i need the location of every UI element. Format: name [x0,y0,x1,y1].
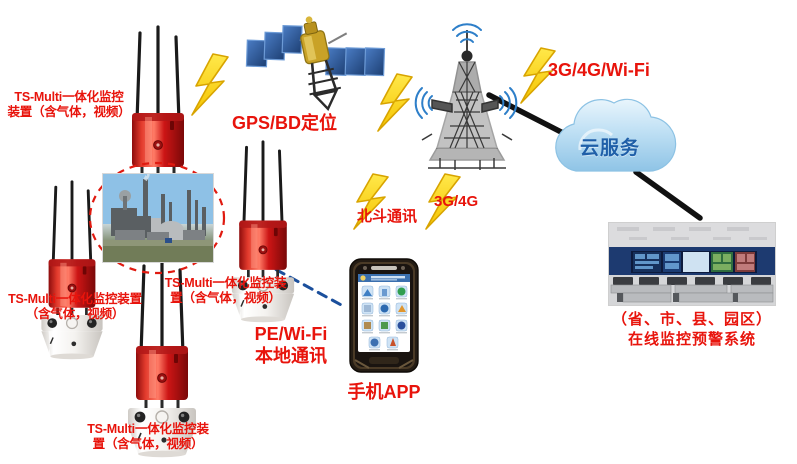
signal-wave-icon [416,24,517,118]
satellite-icon [239,2,394,123]
label-device-bottom: TS-Multi一体化监控装 置（含气体，视频） [78,422,218,453]
label-control-center: （省、市、县、园区） 在线监控预警系统 [600,310,784,351]
label-3g4g: 3G/4G [434,193,504,211]
plant-photo [102,173,214,263]
bolt-satellite-tower [378,74,412,131]
label-device-left: TS-Multi一体化监控装置 （含气体，视频） [0,292,150,323]
label-device-mid: TS-Multi一体化监控装 置（含气体，视频） [163,276,288,307]
control-room-photo [608,222,776,306]
link-tower-cloud [489,95,567,135]
bolt-gps-device [192,54,228,115]
label-beidou: 北斗通讯 [347,208,427,226]
label-phone-app: 手机APP [334,382,434,404]
label-cloud: 云服务 [580,133,640,160]
label-local-comm: PE/Wi-Fi 本地通讯 [236,324,346,368]
diagram-canvas: TS-Multi一体化监控 装置（含气体，视频） TS-Multi一体化监控装置… [0,0,797,464]
label-device-top: TS-Multi一体化监控 装置（含气体，视频） [4,90,134,121]
handheld-device-photo [349,258,419,373]
label-gps: GPS/BD定位 [222,113,347,135]
device-left-icon [41,182,102,359]
tower-icon [416,24,517,170]
label-3g4g-wifi: 3G/4G/Wi-Fi [548,60,678,82]
link-cloud-controlroom [636,172,700,218]
